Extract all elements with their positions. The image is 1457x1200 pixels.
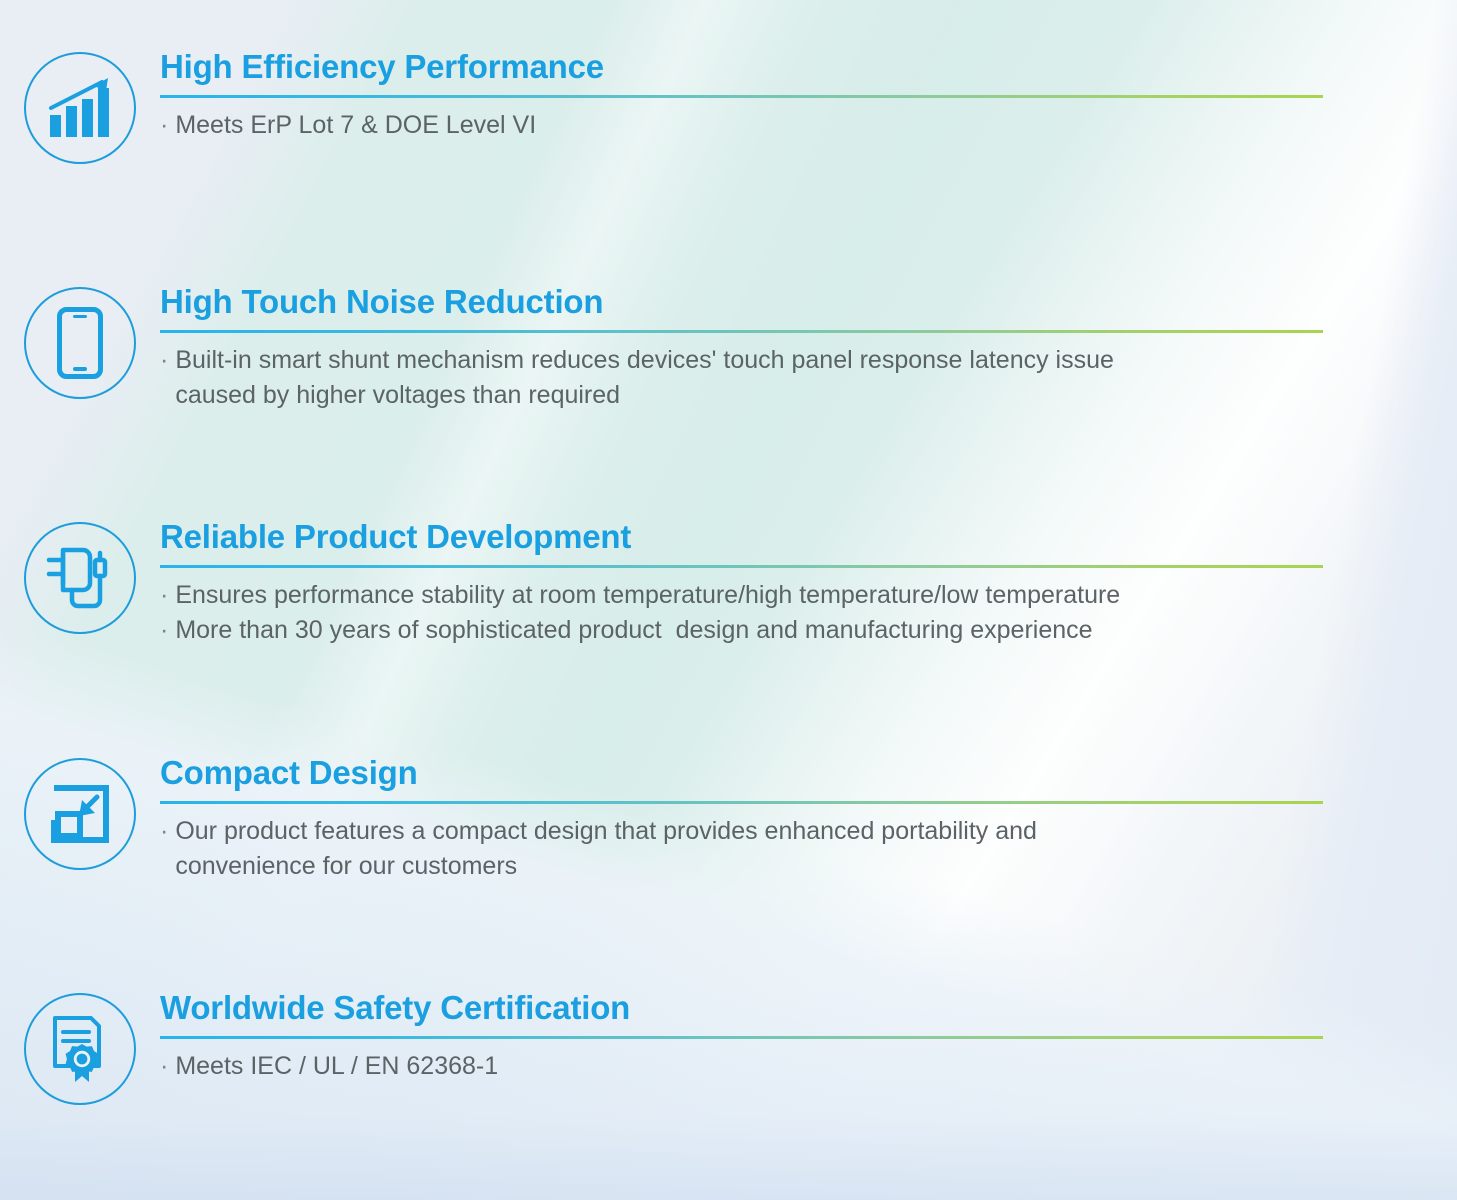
feature-body: Worldwide Safety Certification · Meets I…: [160, 989, 1457, 1084]
power-adapter-icon: [24, 522, 136, 634]
feature-icon-slot: [0, 48, 160, 164]
bullet-text: Meets IEC / UL / EN 62368-1: [175, 1049, 498, 1085]
smartphone-icon: [24, 287, 136, 399]
feature-item-high-touch-noise-reduction: High Touch Noise Reduction · Built-in sm…: [0, 283, 1457, 414]
bullet-dot: ·: [160, 1049, 168, 1085]
bullet-dot: ·: [160, 343, 168, 379]
bullet-text: Ensures performance stability at room te…: [175, 578, 1120, 614]
feature-divider: [160, 801, 1323, 804]
feature-divider: [160, 95, 1323, 98]
feature-title: Worldwide Safety Certification: [160, 989, 1457, 1028]
feature-title: High Touch Noise Reduction: [160, 283, 1457, 322]
feature-highlights-page: High Efficiency Performance · Meets ErP …: [0, 0, 1457, 1200]
bullet-dot: ·: [160, 814, 168, 850]
feature-item-worldwide-safety-certification: Worldwide Safety Certification · Meets I…: [0, 989, 1457, 1105]
feature-item-high-efficiency-performance: High Efficiency Performance · Meets ErP …: [0, 48, 1457, 164]
feature-icon-slot: [0, 989, 160, 1105]
feature-bullets: · Ensures performance stability at room …: [160, 578, 1457, 649]
bullet-text: caused by higher voltages than required: [175, 378, 620, 414]
bullet-text: Built-in smart shunt mechanism reduces d…: [175, 343, 1114, 379]
feature-body: Compact Design · Our product features a …: [160, 754, 1457, 885]
feature-title: High Efficiency Performance: [160, 48, 1457, 87]
feature-icon-slot: [0, 283, 160, 399]
feature-body: High Touch Noise Reduction · Built-in sm…: [160, 283, 1457, 414]
bullet-item: · Meets IEC / UL / EN 62368-1: [160, 1049, 1457, 1085]
bullet-item: · convenience for our customers: [160, 849, 1457, 885]
feature-bullets: · Meets IEC / UL / EN 62368-1: [160, 1049, 1457, 1085]
bullet-item: · Built-in smart shunt mechanism reduces…: [160, 343, 1457, 379]
bullet-dot: ·: [160, 578, 168, 614]
bullet-item: · Our product features a compact design …: [160, 814, 1457, 850]
bullet-text: Meets ErP Lot 7 & DOE Level VI: [175, 108, 536, 144]
feature-bullets: · Our product features a compact design …: [160, 814, 1457, 885]
feature-icon-slot: [0, 518, 160, 634]
feature-item-reliable-product-development: Reliable Product Development · Ensures p…: [0, 518, 1457, 649]
feature-icon-slot: [0, 754, 160, 870]
feature-bullets: · Built-in smart shunt mechanism reduces…: [160, 343, 1457, 414]
bar-chart-growth-icon: [24, 52, 136, 164]
bullet-item: · caused by higher voltages than require…: [160, 378, 1457, 414]
feature-title: Reliable Product Development: [160, 518, 1457, 557]
feature-divider: [160, 1036, 1323, 1039]
bullet-dot: ·: [160, 108, 168, 144]
feature-body: High Efficiency Performance · Meets ErP …: [160, 48, 1457, 143]
feature-divider: [160, 330, 1323, 333]
feature-title: Compact Design: [160, 754, 1457, 793]
feature-item-compact-design: Compact Design · Our product features a …: [0, 754, 1457, 885]
bullet-text: Our product features a compact design th…: [175, 814, 1037, 850]
bullet-item: · More than 30 years of sophisticated pr…: [160, 613, 1457, 649]
bullet-text: More than 30 years of sophisticated prod…: [175, 613, 1092, 649]
feature-divider: [160, 565, 1323, 568]
certificate-seal-icon: [24, 993, 136, 1105]
feature-body: Reliable Product Development · Ensures p…: [160, 518, 1457, 649]
bullet-item: · Ensures performance stability at room …: [160, 578, 1457, 614]
bullet-text: convenience for our customers: [175, 849, 517, 885]
compact-shrink-icon: [24, 758, 136, 870]
feature-bullets: · Meets ErP Lot 7 & DOE Level VI: [160, 108, 1457, 144]
bullet-item: · Meets ErP Lot 7 & DOE Level VI: [160, 108, 1457, 144]
bullet-dot: ·: [160, 613, 168, 649]
